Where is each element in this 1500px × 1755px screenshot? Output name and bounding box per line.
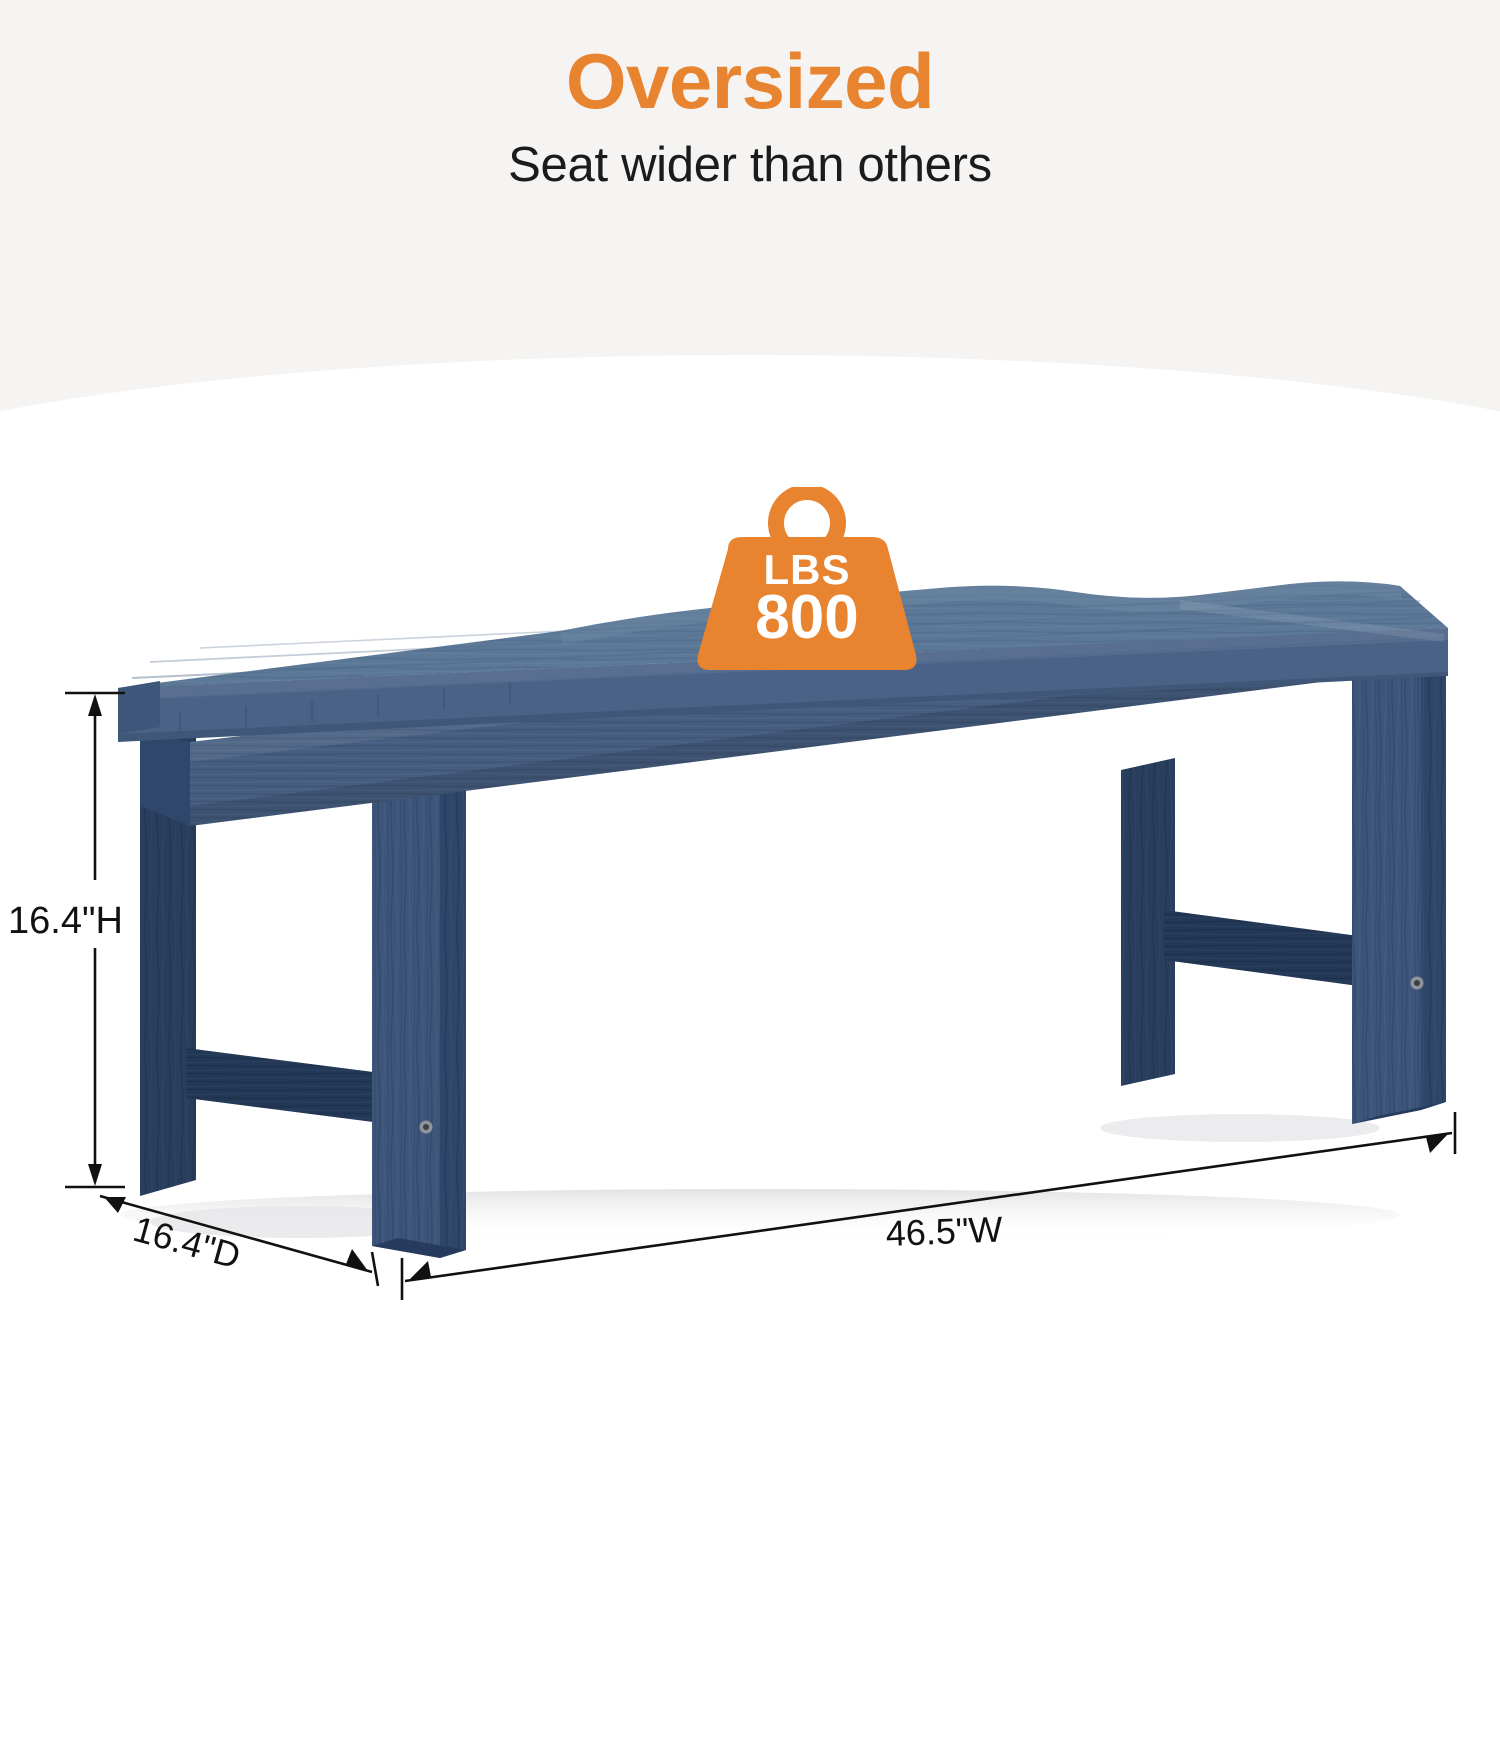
dimension-label-width: 46.5"W [885,1209,1003,1255]
badge-value: 800 [676,587,938,649]
bench-leg-front-left [372,770,466,1258]
bench-shadow [120,1114,1400,1241]
product-feature-image: Oversized Seat wider than others [0,0,1500,1311]
bench-leg-front-right [1352,652,1446,1124]
dimension-label-height: 16.4"H [8,900,123,943]
weight-capacity-badge: LBS 800 [676,487,938,673]
